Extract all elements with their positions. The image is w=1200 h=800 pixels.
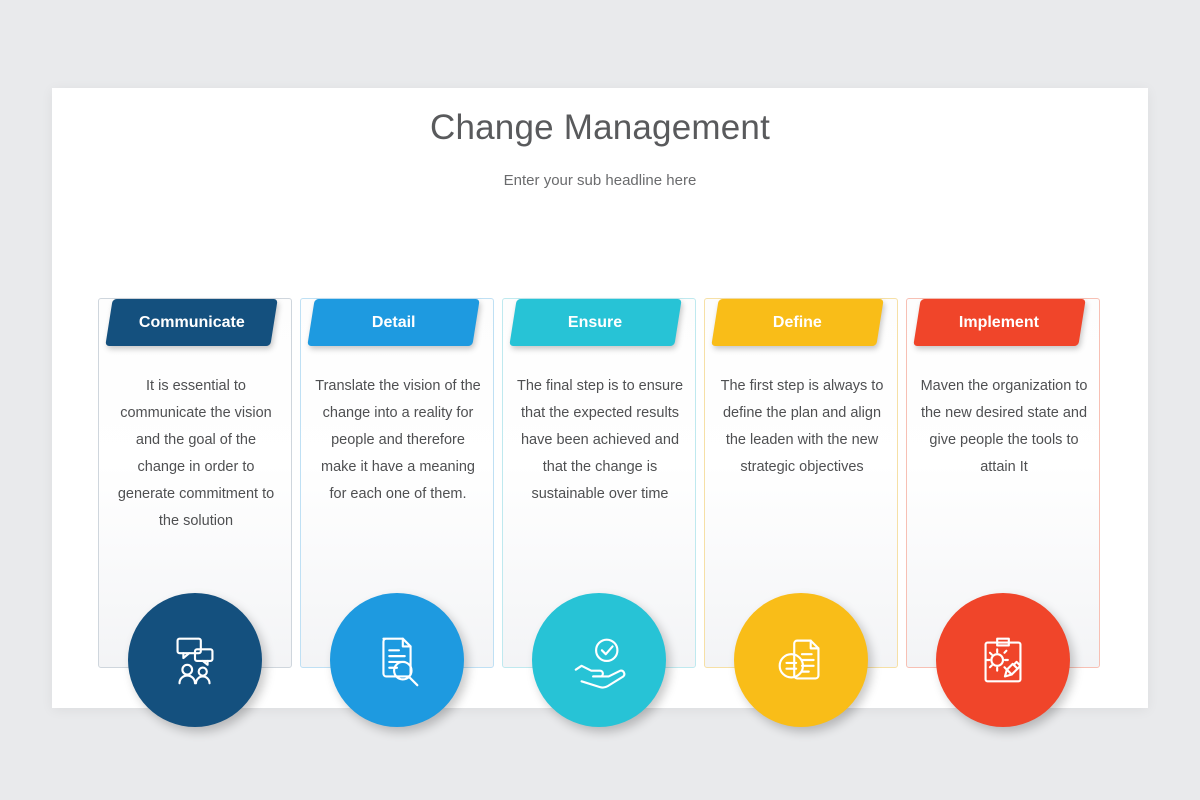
card-implement[interactable]: Implement Maven the organization to the … [906, 298, 1100, 668]
hand-check-icon [568, 629, 630, 691]
card-communicate[interactable]: Communicate It is essential to communica… [98, 298, 292, 668]
card-body-text: The final step is to ensure that the exp… [515, 373, 685, 508]
card-detail[interactable]: Detail Translate the vision of the chang… [300, 298, 494, 668]
card-icon-circle-detail[interactable] [330, 593, 464, 727]
card-define[interactable]: Define The first step is always to defin… [704, 298, 898, 668]
card-icon-circle-ensure[interactable] [532, 593, 666, 727]
card-tab-label: Define [773, 314, 822, 332]
card-tab-define[interactable]: Define [711, 299, 883, 346]
slide-canvas: Change Management Enter your sub headlin… [52, 88, 1148, 708]
cards-container: Communicate It is essential to communica… [98, 213, 1102, 668]
page-title: Change Management [52, 108, 1148, 148]
card-body-text: Maven the organization to the new desire… [919, 373, 1089, 481]
card-tab-communicate[interactable]: Communicate [105, 299, 277, 346]
card-tab-detail[interactable]: Detail [307, 299, 479, 346]
card-icon-circle-implement[interactable] [936, 593, 1070, 727]
card-tab-label: Ensure [568, 314, 622, 332]
card-ensure[interactable]: Ensure The final step is to ensure that … [502, 298, 696, 668]
clipboard-gear-icon [972, 629, 1034, 691]
card-tab-label: Implement [959, 314, 1039, 332]
card-body-text: The first step is always to define the p… [717, 373, 887, 481]
card-icon-circle-communicate[interactable] [128, 593, 262, 727]
chat-users-icon [164, 629, 226, 691]
card-tab-ensure[interactable]: Ensure [509, 299, 681, 346]
card-tab-implement[interactable]: Implement [913, 299, 1085, 346]
document-search-icon [366, 629, 428, 691]
card-tab-label: Detail [372, 314, 416, 332]
page-subtitle: Enter your sub headline here [52, 172, 1148, 189]
document-note-icon [770, 629, 832, 691]
card-tab-label: Communicate [139, 314, 245, 332]
card-body-text: It is essential to communicate the visio… [111, 373, 281, 535]
card-icon-circle-define[interactable] [734, 593, 868, 727]
card-body-text: Translate the vision of the change into … [313, 373, 483, 508]
